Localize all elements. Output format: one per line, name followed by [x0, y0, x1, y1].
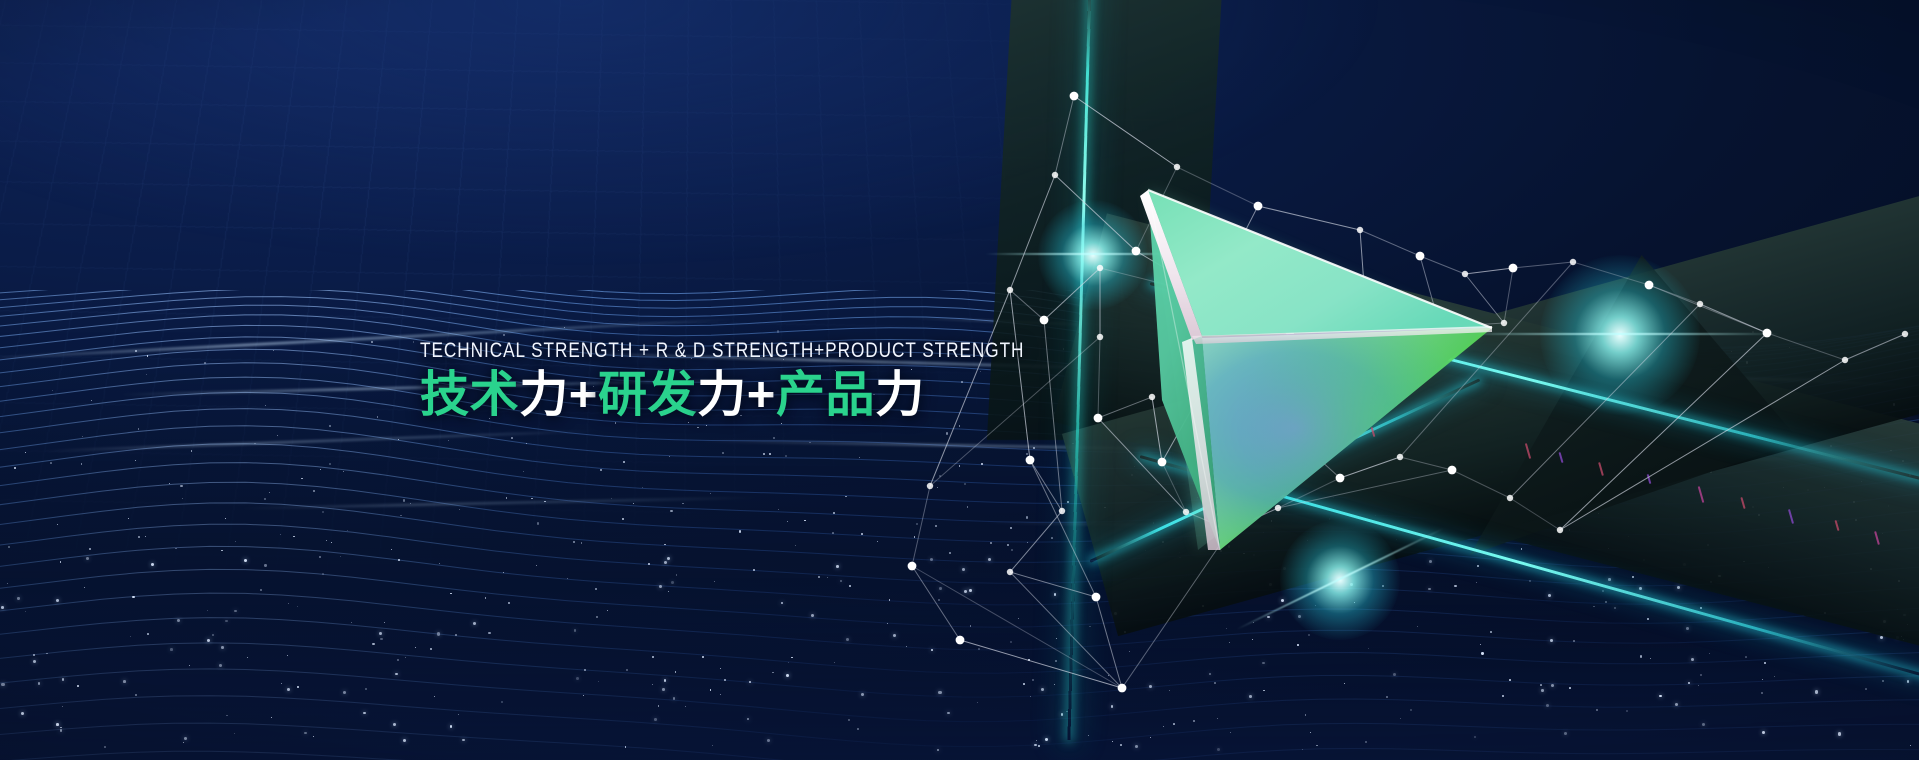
- mesh-row: [0, 643, 1919, 697]
- headline-segment-1: 力+: [519, 368, 598, 422]
- hero-headline: 技术力+研发力+产品力: [420, 367, 1176, 425]
- mesh-row: [0, 669, 1919, 722]
- headline-segment-4: 产品: [776, 368, 875, 422]
- hero-copy: TECHNICAL STRENGTH + R & D STRENGTH+PROD…: [420, 338, 1176, 425]
- prism-face-top: [1148, 190, 1492, 336]
- mesh-row: [0, 569, 1919, 627]
- headline-segment-3: 力+: [697, 368, 776, 422]
- headline-segment-2: 研发: [598, 368, 697, 422]
- prism-inner-green: [1202, 328, 1492, 550]
- headline-segment-5: 力: [875, 368, 925, 422]
- prism-arrow-graphic: [1100, 150, 1620, 610]
- mesh-row: [0, 723, 1919, 760]
- mesh-row: [0, 751, 1919, 760]
- mesh-row: [0, 593, 1919, 650]
- headline-segment-0: 技术: [420, 368, 519, 422]
- hero-banner: TECHNICAL STRENGTH + R & D STRENGTH+PROD…: [0, 0, 1919, 760]
- hero-eyebrow: TECHNICAL STRENGTH + R & D STRENGTH+PROD…: [420, 338, 1024, 363]
